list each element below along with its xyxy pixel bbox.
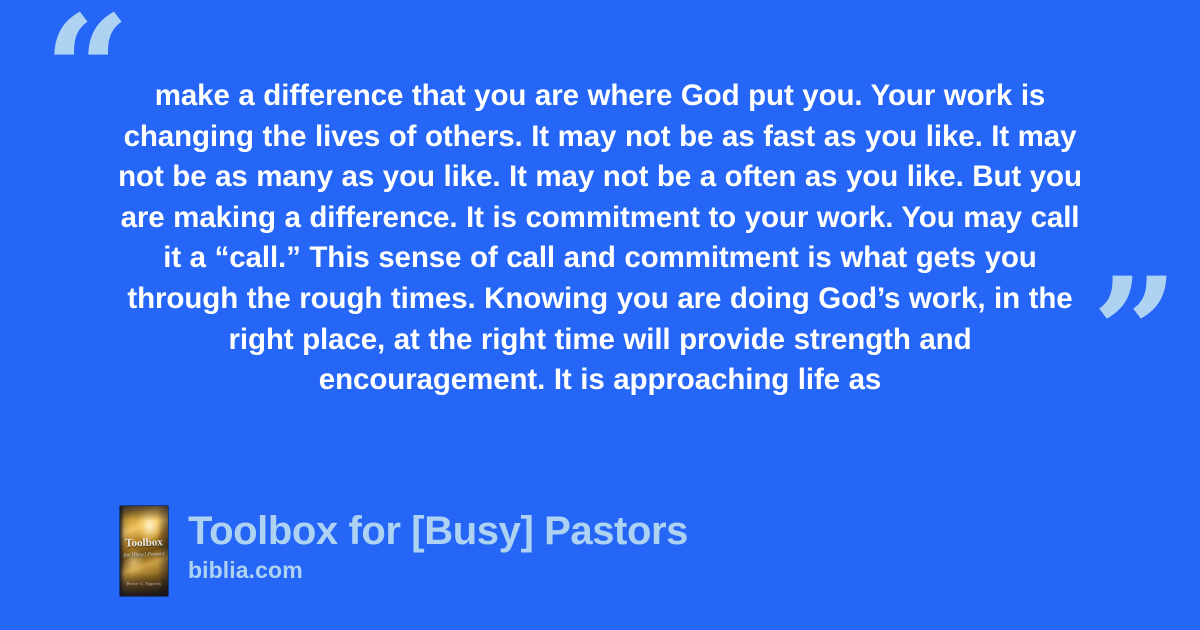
closing-quote-icon: ” [1092,258,1176,408]
quote-body-text: make a difference that you are where God… [118,76,1082,401]
book-title: Toolbox for [Busy] Pastors [188,508,688,554]
source-site-label[interactable]: biblia.com [188,556,688,584]
quote-card: “ make a difference that you are where G… [0,0,1200,630]
book-cover-author: Bruce G. Epperly [120,581,168,586]
brand-text-group: Toolbox for [Busy] Pastors biblia.com [188,506,688,584]
book-cover-title: Toolbox [120,538,168,551]
footer-branding: Toolbox for [Busy] Pastors Bruce G. Eppe… [120,506,688,596]
book-cover-thumbnail[interactable]: Toolbox for [Busy] Pastors Bruce G. Eppe… [120,506,168,596]
opening-quote-icon: “ [44,0,128,146]
